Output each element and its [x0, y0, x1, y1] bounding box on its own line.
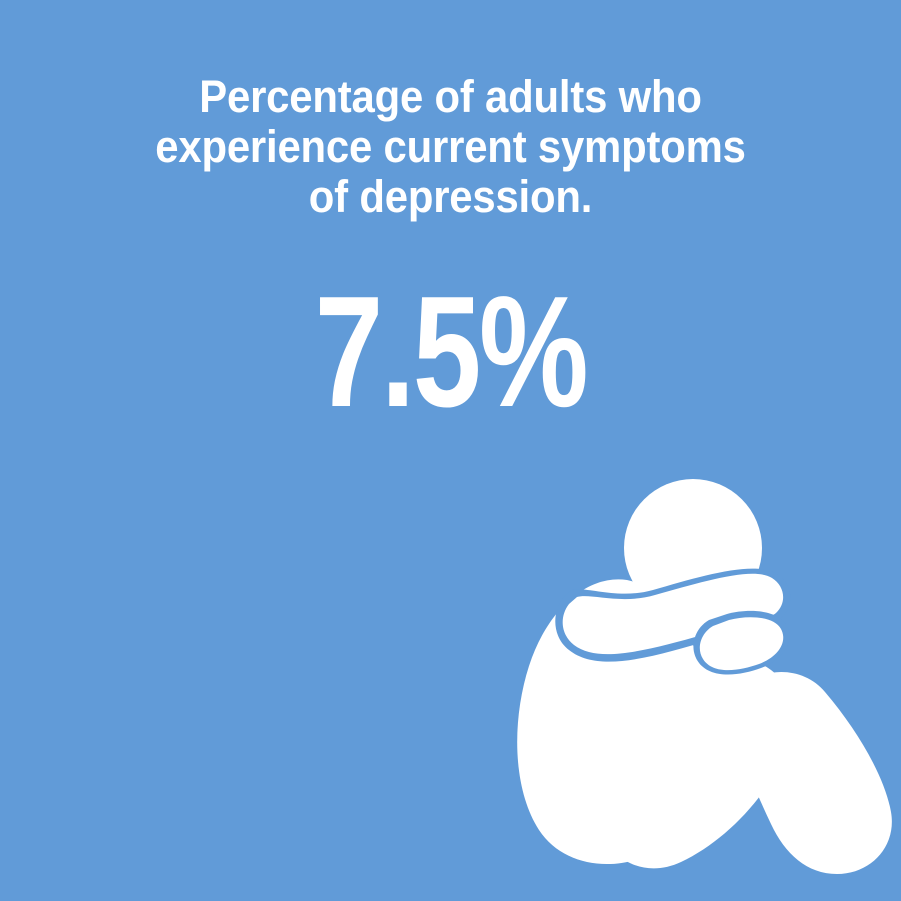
headline-line-3: of depression. — [32, 172, 870, 222]
infographic-canvas: Percentage of adults who experience curr… — [0, 0, 901, 901]
seated-person-hugging-knees-icon — [495, 470, 895, 880]
headline-line-2: experience current symptoms — [32, 122, 870, 172]
page-title: Percentage of adults who experience curr… — [32, 72, 870, 222]
stat-value: 7.5% — [99, 282, 802, 422]
headline-line-1: Percentage of adults who — [32, 72, 870, 122]
